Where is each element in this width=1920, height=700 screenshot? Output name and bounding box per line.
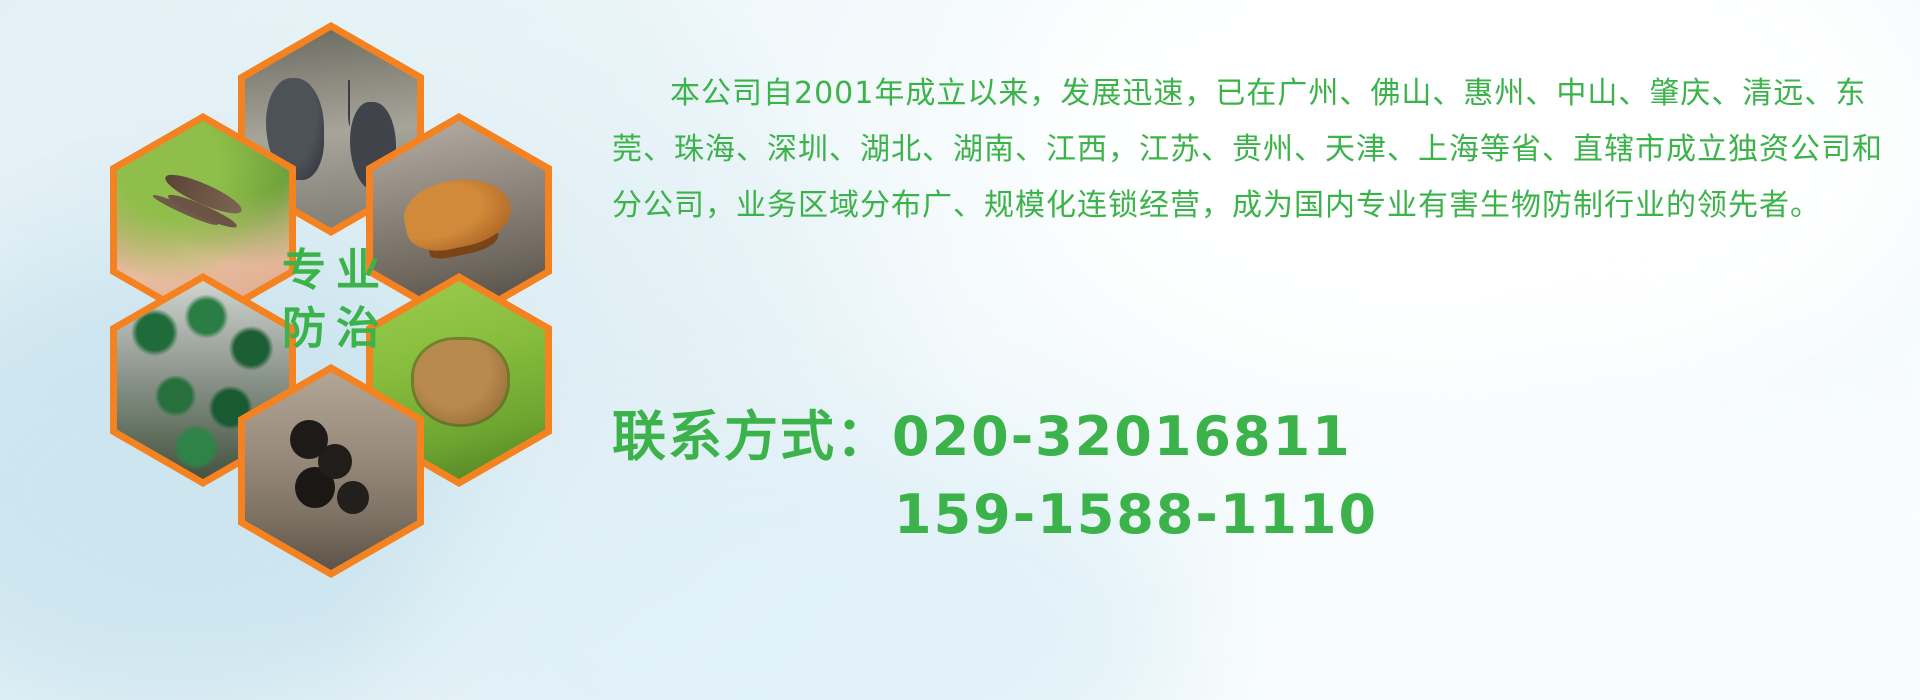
ants-icon xyxy=(245,372,417,570)
contact-line-primary: 联系方式：020-32016811 xyxy=(612,398,1902,476)
promo-banner: 专业 防治 本公司自2001年成立以来，发展迅速，已在广州、佛山、惠州、中山、肇… xyxy=(0,0,1920,700)
hexagon-photo-cluster: 专业 防治 xyxy=(90,8,610,568)
company-intro-paragraph: 本公司自2001年成立以来，发展迅速，已在广州、佛山、惠州、中山、肇庆、清远、东… xyxy=(612,66,1902,234)
intro-copy-block: 本公司自2001年成立以来，发展迅速，已在广州、佛山、惠州、中山、肇庆、清远、东… xyxy=(612,36,1902,264)
contact-block: 联系方式：020-32016811 159-1588-1110 xyxy=(612,398,1902,554)
contact-line-secondary: 159-1588-1110 xyxy=(612,476,1902,554)
